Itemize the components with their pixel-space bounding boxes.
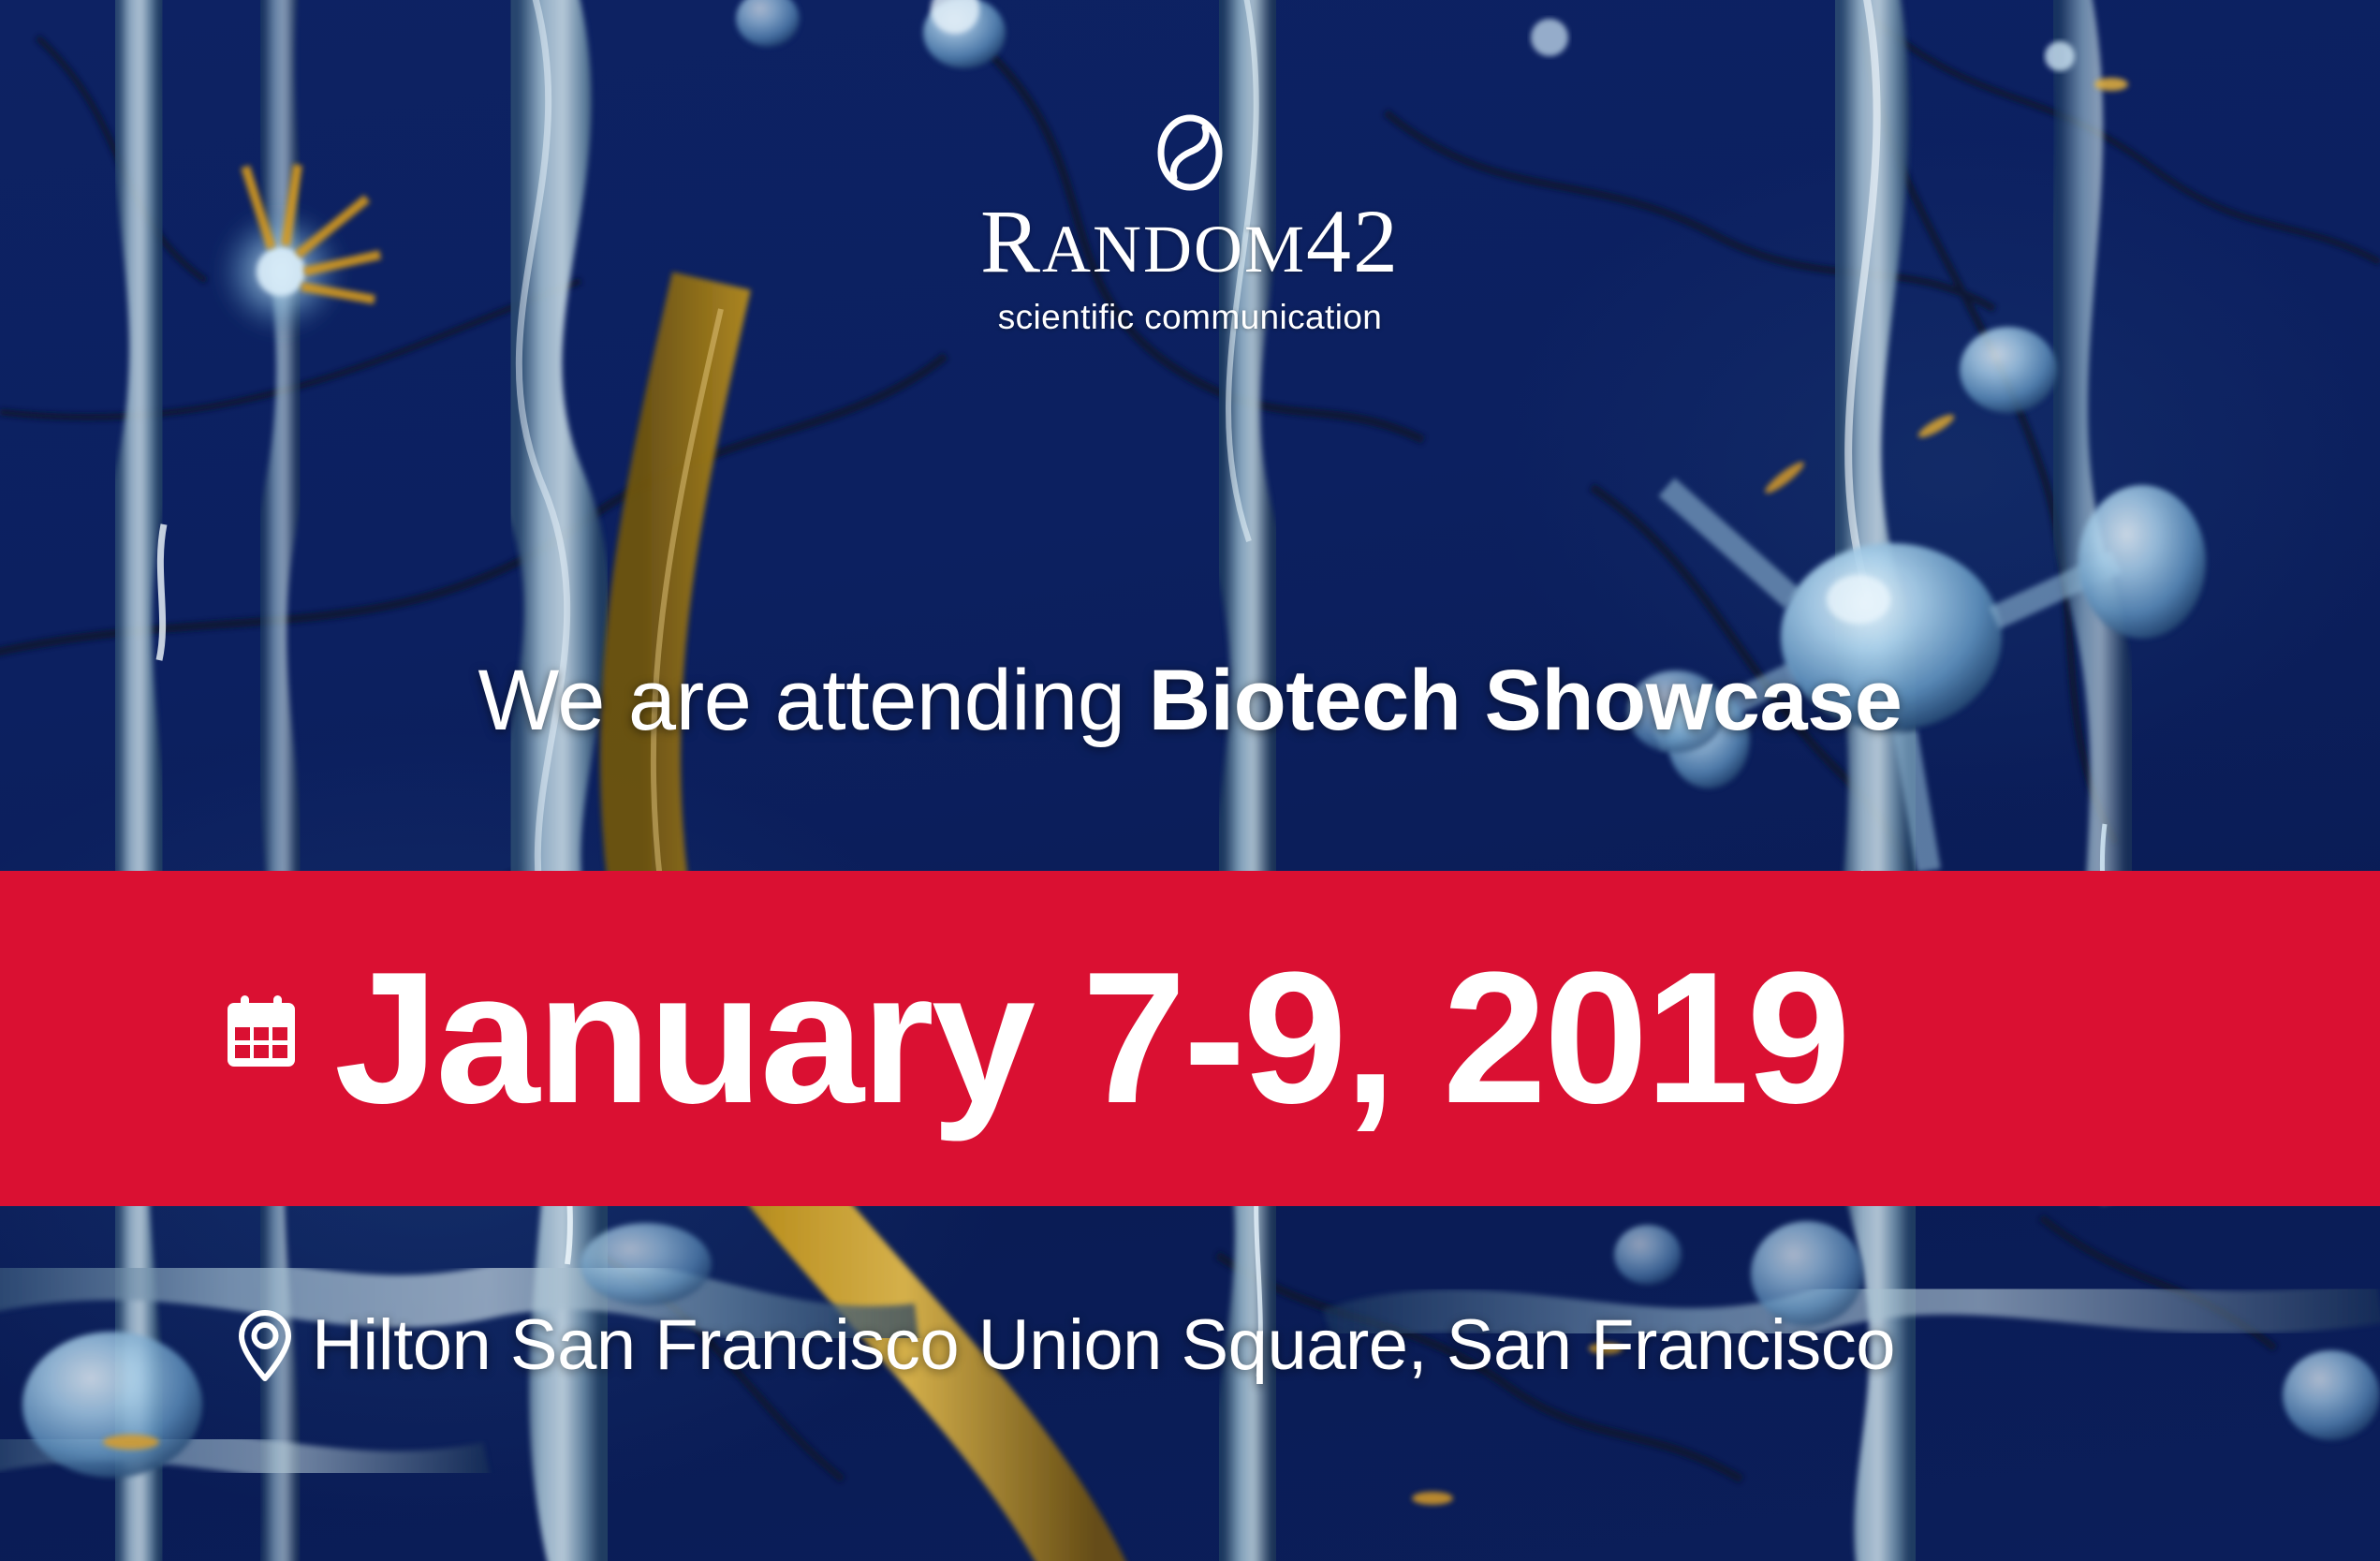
brand-logo: RANDOM42 scientific communication: [0, 110, 2380, 337]
venue-name: Hilton San Francisco Union Square, San F…: [312, 1310, 1895, 1381]
brand-wordmark: RANDOM42: [980, 197, 1400, 287]
date-banner-content: January 7-9, 2019: [0, 945, 2380, 1132]
random42-circle-logo-icon: [1155, 110, 1225, 191]
headline-lead: We are attending: [478, 653, 1149, 748]
wordmark-number: 42: [1306, 191, 1400, 291]
event-announcement-banner: RANDOM42 scientific communication We are…: [0, 0, 2380, 1561]
map-pin-icon: [239, 1309, 291, 1382]
calendar-icon: [228, 995, 295, 1067]
wordmark-rest: ANDOM: [1042, 212, 1306, 287]
wordmark-cap: R: [980, 191, 1042, 291]
event-date: January 7-9, 2019: [334, 945, 1848, 1132]
headline: We are attending Biotech Showcase: [0, 655, 2380, 747]
headline-event-name: Biotech Showcase: [1149, 653, 1903, 748]
brand-tagline: scientific communication: [998, 298, 1383, 337]
date-banner: January 7-9, 2019: [0, 871, 2380, 1206]
venue-line: Hilton San Francisco Union Square, San F…: [239, 1309, 1895, 1382]
